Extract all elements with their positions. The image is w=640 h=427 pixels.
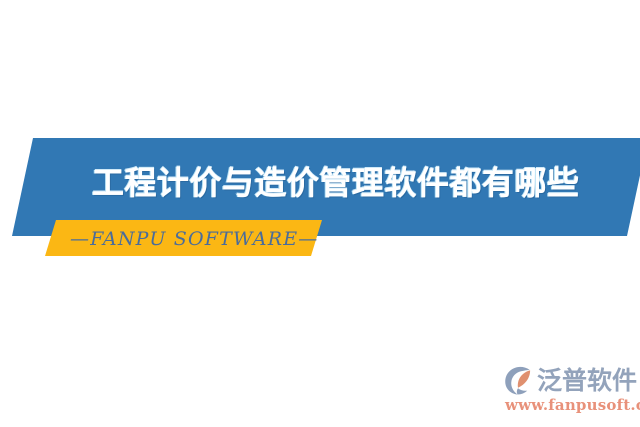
fanpu-swoosh-logo-icon (503, 365, 534, 396)
slide-canvas: 工程计价与造价管理软件都有哪些 —FANPU SOFTWARE— 泛普软件 ww… (0, 0, 640, 427)
brand-watermark: 泛普软件 www.fanpusoft.com (503, 364, 637, 420)
banner-subtitle: —FANPU SOFTWARE— (70, 226, 310, 252)
brand-logo-row: 泛普软件 (503, 364, 637, 396)
banner-shapes-svg (0, 0, 640, 427)
brand-url: www.fanpusoft.com (505, 396, 640, 414)
page-title: 工程计价与造价管理软件都有哪些 (92, 161, 562, 205)
banner-shape-group (0, 0, 640, 427)
brand-name: 泛普软件 (537, 365, 637, 396)
